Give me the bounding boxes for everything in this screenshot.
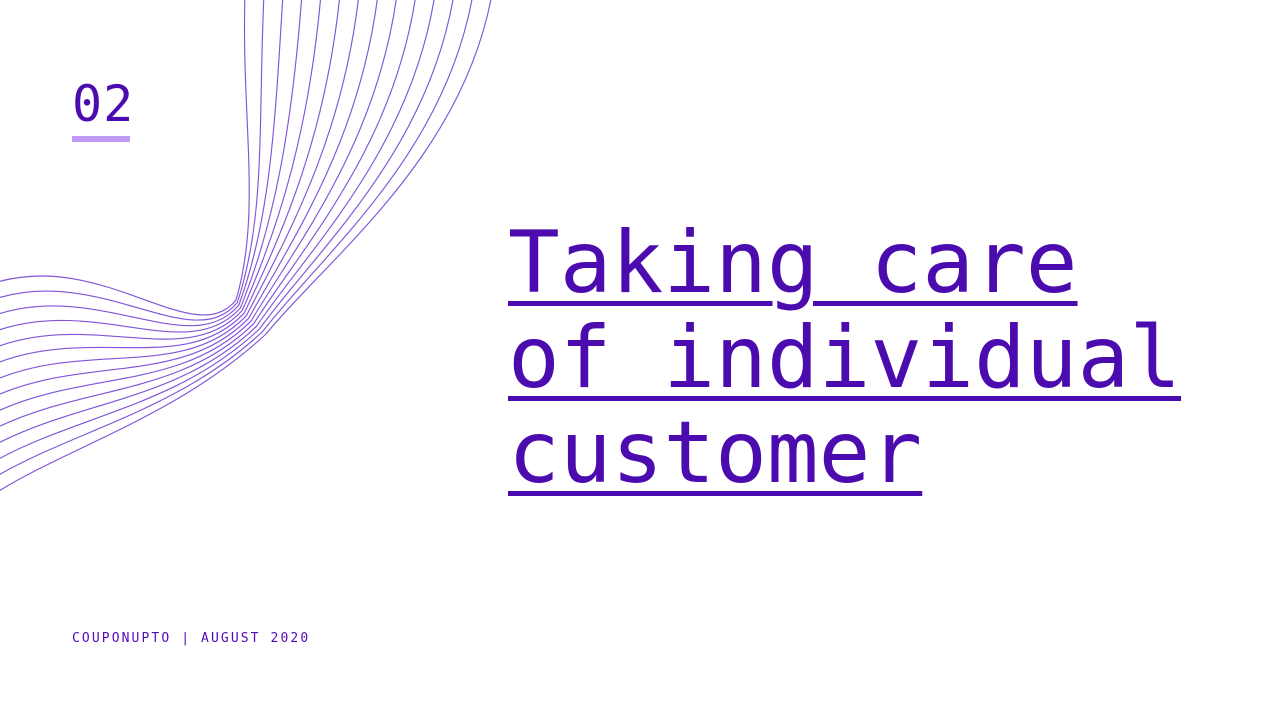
wave-line [0, 0, 435, 445]
wave-line [0, 0, 249, 315]
slide-canvas: 02 Taking care of individual customer CO… [0, 0, 1280, 720]
wave-line [0, 0, 454, 462]
slide-footer: COUPONUPTO | AUGUST 2020 [72, 630, 310, 648]
wave-line [0, 0, 264, 320]
slide-title: Taking care of individual customer [508, 216, 1228, 501]
section-number-rule [72, 136, 130, 142]
wave-line [0, 0, 397, 413]
wave-line [0, 0, 340, 364]
wave-line [0, 0, 321, 348]
wave-line [0, 0, 416, 429]
wave-line [0, 0, 378, 397]
wave-line [0, 0, 283, 326]
wave-line [0, 0, 302, 332]
section-number-block: 02 [72, 76, 134, 142]
section-number: 02 [72, 76, 134, 132]
wave-line [0, 0, 473, 478]
wave-line [0, 0, 359, 380]
